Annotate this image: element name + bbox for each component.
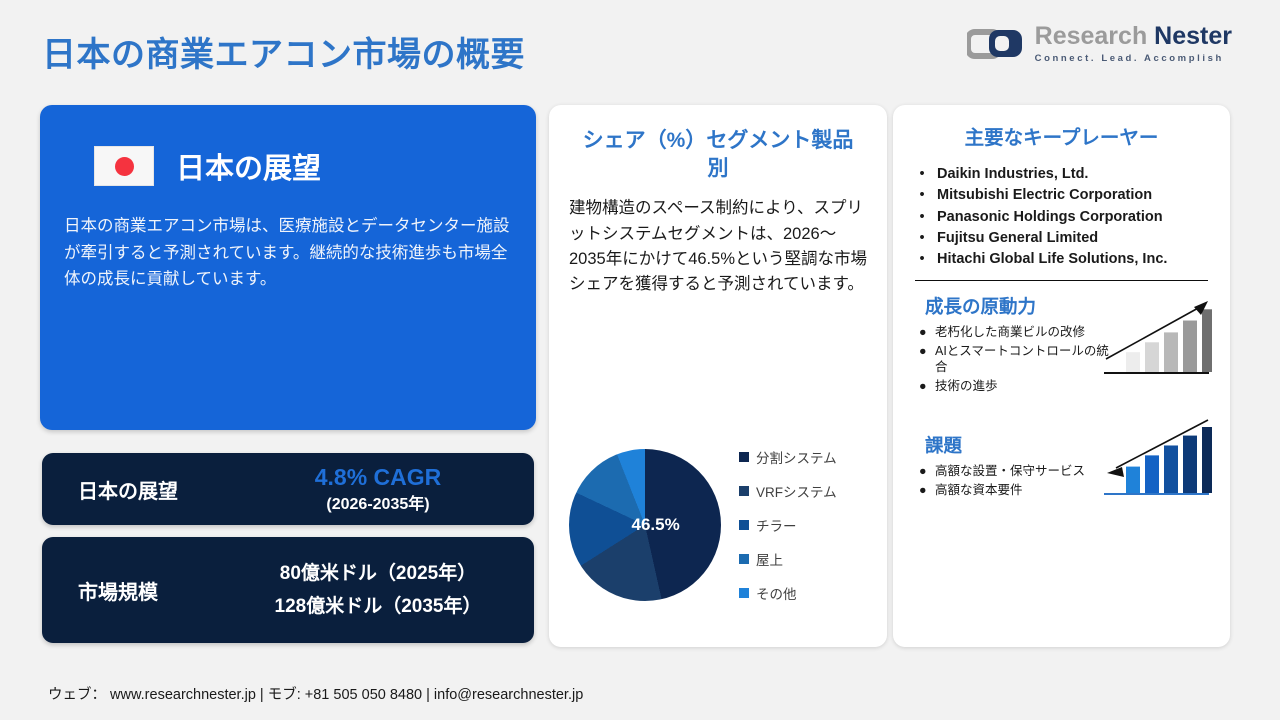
footer-contact: ウェブ： www.researchnester.jp | モブ: +81 505… xyxy=(48,683,583,704)
legend-item: 分割システム xyxy=(739,447,837,467)
share-panel-body: 建物構造のスペース制約により、スプリットシステムセグメントは、2026〜2035… xyxy=(569,196,867,296)
research-nester-logo: Research Nester Connect. Lead. Accomplis… xyxy=(967,24,1232,64)
bullet-icon: • xyxy=(915,164,929,184)
legend-item: 屋上 xyxy=(739,549,837,569)
market-size-2025: 80億米ドル（2025年） xyxy=(242,557,514,590)
bullet-icon: • xyxy=(915,249,929,269)
share-segment-panel: シェア（%）セグメント製品別 建物構造のスペース制約により、スプリットシステムセ… xyxy=(549,105,887,647)
bullet-icon: ● xyxy=(919,378,928,395)
key-players-list: •Daikin Industries, Ltd.•Mitsubishi Elec… xyxy=(915,164,1214,269)
legend-swatch-icon xyxy=(739,486,749,496)
bar xyxy=(1202,310,1212,373)
key-players-title: 主要なキープレーヤー xyxy=(909,121,1214,150)
list-item-label: AIとスマートコントロールの統合 xyxy=(935,343,1111,376)
bar xyxy=(1126,353,1140,373)
growth-trend-chart xyxy=(1104,297,1212,383)
market-size-values: 80億米ドル（2025年） 128億米ドル（2035年） xyxy=(242,557,534,624)
market-size-card: 市場規模 80億米ドル（2025年） 128億米ドル（2035年） xyxy=(42,537,534,643)
bullet-icon: ● xyxy=(919,324,928,341)
logo-tagline: Connect. Lead. Accomplish xyxy=(1035,53,1224,64)
share-panel-title: シェア（%）セグメント製品別 xyxy=(569,125,867,182)
growth-drivers-list: ●老朽化した商業ビルの改修●AIとスマートコントロールの統合●技術の進歩 xyxy=(919,324,1111,394)
pie-legend: 分割システムVRFシステムチラー屋上その他 xyxy=(739,447,837,603)
legend-label: VRFシステム xyxy=(756,481,837,501)
list-item: ●高額な資本要件 xyxy=(919,482,1111,499)
pie-chart-area: 46.5% 分割システムVRFシステムチラー屋上その他 xyxy=(563,425,875,625)
cagr-card-value-group: 4.8% CAGR (2026-2035年) xyxy=(242,464,534,514)
bar xyxy=(1202,427,1212,493)
legend-label: その他 xyxy=(756,583,797,603)
legend-label: 屋上 xyxy=(756,549,783,569)
key-player-item: •Mitsubishi Electric Corporation xyxy=(915,185,1214,205)
logo-word-nester: Nester xyxy=(1154,22,1232,50)
bullet-icon: ● xyxy=(919,343,928,376)
growth-drivers-section: 成長の原動力 ●老朽化した商業ビルの改修●AIとスマートコントロールの統合●技術… xyxy=(909,293,1214,394)
key-player-item: •Hitachi Global Life Solutions, Inc. xyxy=(915,249,1214,269)
legend-swatch-icon xyxy=(739,520,749,530)
bar xyxy=(1183,321,1197,372)
list-item: ●高額な設置・保守サービス xyxy=(919,463,1111,480)
list-item: ●老朽化した商業ビルの改修 xyxy=(919,324,1111,341)
bar xyxy=(1145,456,1159,494)
key-player-name: Fujitsu General Limited xyxy=(937,228,1214,248)
bar xyxy=(1164,333,1178,373)
legend-item: VRFシステム xyxy=(739,481,837,501)
bar xyxy=(1145,343,1159,373)
outlook-title: 日本の展望 xyxy=(176,145,321,187)
challenges-trend-chart xyxy=(1104,418,1212,504)
challenges-section: 課題 ●高額な設置・保守サービス●高額な資本要件 xyxy=(909,432,1214,498)
cagr-period: (2026-2035年) xyxy=(242,490,514,514)
legend-swatch-icon xyxy=(739,588,749,598)
bullet-icon: ● xyxy=(919,463,928,480)
bullet-icon: • xyxy=(915,228,929,248)
list-item-label: 高額な設置・保守サービス xyxy=(935,463,1085,480)
list-item: ●AIとスマートコントロールの統合 xyxy=(919,343,1111,376)
cagr-card: 日本の展望 4.8% CAGR (2026-2035年) xyxy=(42,453,534,525)
pie-chart: 46.5% xyxy=(569,449,721,601)
section-divider xyxy=(915,280,1208,281)
logo-wordmark: Research Nester xyxy=(1035,24,1232,49)
bar xyxy=(1183,436,1197,493)
logo-word-research: Research xyxy=(1035,22,1155,50)
cagr-card-label: 日本の展望 xyxy=(42,475,242,504)
legend-label: チラー xyxy=(756,515,797,535)
key-player-item: •Fujitsu General Limited xyxy=(915,228,1214,248)
right-info-panel: 主要なキープレーヤー •Daikin Industries, Ltd.•Mits… xyxy=(893,105,1230,647)
list-item: ●技術の進歩 xyxy=(919,378,1111,395)
japan-outlook-panel: 日本の展望 日本の商業エアコン市場は、医療施設とデータセンター施設が牽引すると予… xyxy=(40,105,536,430)
key-player-item: •Daikin Industries, Ltd. xyxy=(915,164,1214,184)
logo-chain-icon xyxy=(967,27,1025,61)
legend-swatch-icon xyxy=(739,452,749,462)
bullet-icon: • xyxy=(915,207,929,227)
page-title: 日本の商業エアコン市場の概要 xyxy=(42,27,525,76)
bar xyxy=(1164,446,1178,494)
market-size-label: 市場規模 xyxy=(42,576,242,605)
list-item-label: 技術の進歩 xyxy=(935,378,998,395)
legend-label: 分割システム xyxy=(756,447,837,467)
bullet-icon: • xyxy=(915,185,929,205)
bullet-icon: ● xyxy=(919,482,928,499)
pie-main-label: 46.5% xyxy=(632,515,680,535)
market-size-2035: 128億米ドル（2035年） xyxy=(242,590,514,623)
key-player-name: Panasonic Holdings Corporation xyxy=(937,207,1214,227)
list-item-label: 老朽化した商業ビルの改修 xyxy=(935,324,1085,341)
challenges-list: ●高額な設置・保守サービス●高額な資本要件 xyxy=(919,463,1111,498)
key-player-name: Hitachi Global Life Solutions, Inc. xyxy=(937,249,1214,269)
bar xyxy=(1126,467,1140,493)
slide-root: 日本の商業エアコン市場の概要 Research Nester Connect. … xyxy=(0,0,1280,720)
legend-item: その他 xyxy=(739,583,837,603)
legend-item: チラー xyxy=(739,515,837,535)
key-player-name: Mitsubishi Electric Corporation xyxy=(937,185,1214,205)
key-player-item: •Panasonic Holdings Corporation xyxy=(915,207,1214,227)
key-player-name: Daikin Industries, Ltd. xyxy=(937,164,1214,184)
list-item-label: 高額な資本要件 xyxy=(935,482,1023,499)
legend-swatch-icon xyxy=(739,554,749,564)
outlook-header: 日本の展望 xyxy=(94,145,512,187)
japan-flag-icon xyxy=(94,146,154,186)
outlook-body-text: 日本の商業エアコン市場は、医療施設とデータセンター施設が牽引すると予測されていま… xyxy=(64,213,512,293)
cagr-value: 4.8% CAGR xyxy=(242,464,514,490)
